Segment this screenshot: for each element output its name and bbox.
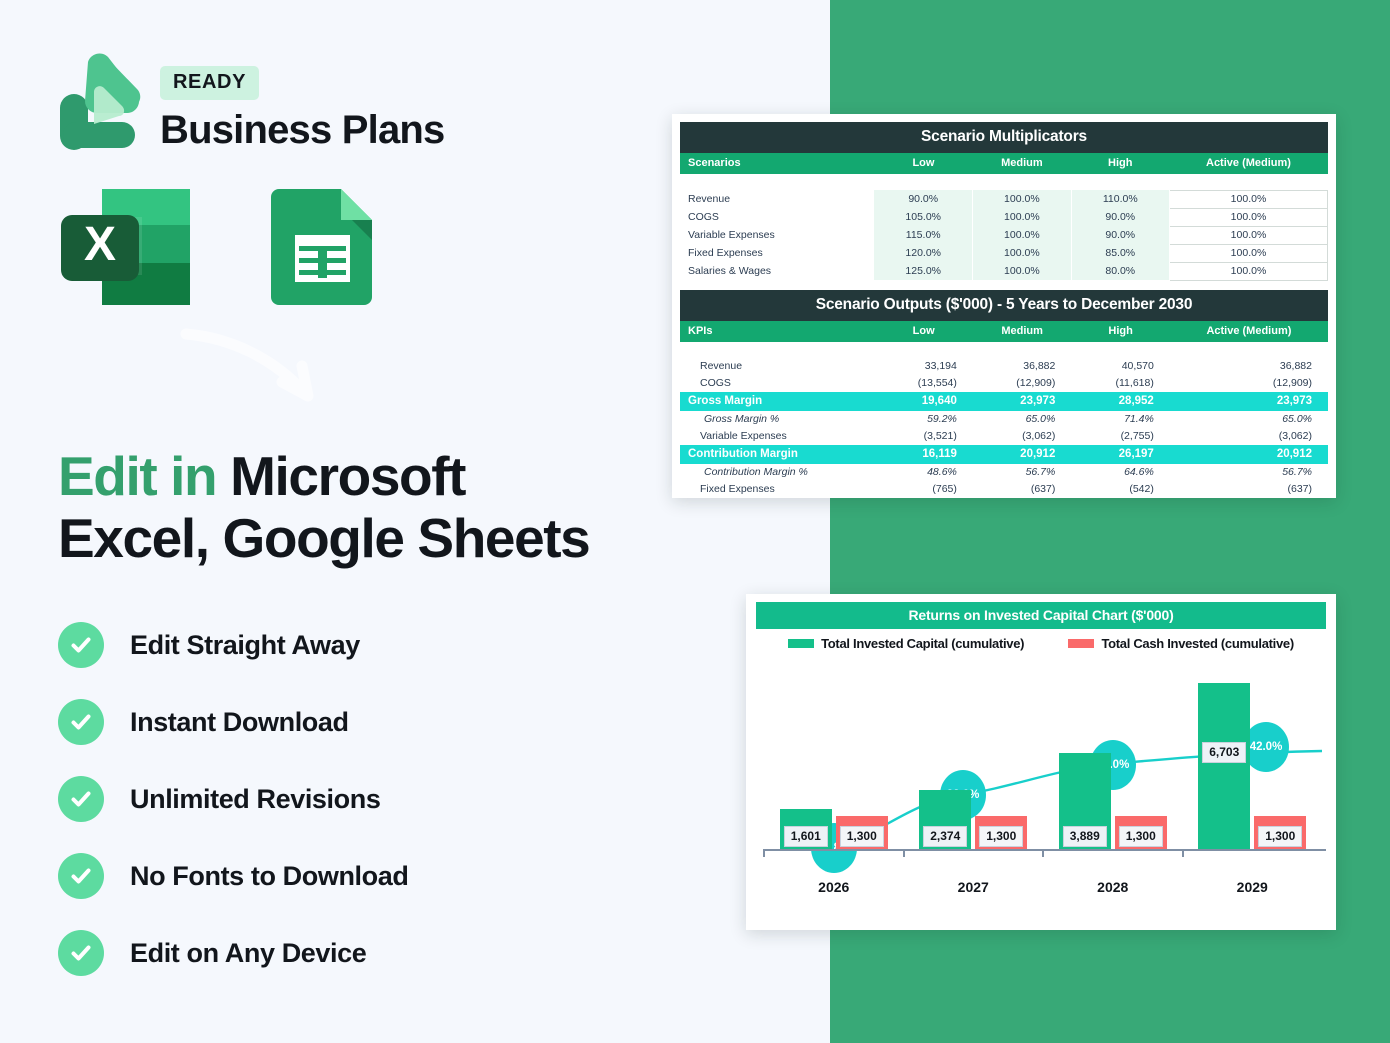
column-header: Active (Medium) — [1169, 153, 1327, 174]
row-label: Salaries & Wages — [680, 262, 874, 280]
cell-active-input[interactable]: 100.0% — [1169, 190, 1327, 208]
table-row: Variable Expenses 115.0% 100.0% 90.0% 10… — [680, 226, 1328, 244]
spreadsheet-preview-card: Scenario Multiplicators Scenarios Low Me… — [672, 114, 1336, 498]
list-item: No Fonts to Download — [58, 853, 408, 899]
app-icons-group: X — [57, 187, 374, 307]
cell-low: 90.0% — [874, 190, 972, 208]
row-label: COGS — [680, 208, 874, 226]
cell-active: 56.7% — [1170, 464, 1328, 481]
headline-accent: Edit in — [58, 445, 216, 507]
chart-title: Returns on Invested Capital Chart ($'000… — [756, 602, 1326, 629]
x-axis-label: 2029 — [1183, 879, 1323, 895]
outputs-band-title: Scenario Outputs ($'000) - 5 Years to De… — [680, 290, 1328, 321]
list-item: Instant Download — [58, 699, 408, 745]
check-circle-icon — [58, 853, 104, 899]
cell-high: (11,618) — [1071, 375, 1169, 392]
bar-value-label: 1,300 — [979, 826, 1023, 847]
cell-active: (12,909) — [1170, 375, 1328, 392]
bar-value-label: 1,300 — [840, 826, 884, 847]
bar-value-label: 1,300 — [1258, 826, 1302, 847]
cell-low: 125.0% — [874, 262, 972, 280]
cell-high: 28,952 — [1071, 392, 1169, 411]
cell-medium: (3,062) — [973, 428, 1071, 445]
cell-medium: 65.0% — [973, 411, 1071, 428]
cell-low: 33,194 — [874, 358, 972, 375]
page-title: Edit in Microsoft Excel, Google Sheets — [58, 446, 738, 569]
column-header: Active (Medium) — [1170, 321, 1328, 342]
table-row: Variable Expenses (3,521) (3,062) (2,755… — [680, 428, 1328, 445]
table-row: Fixed Expenses 120.0% 100.0% 85.0% 100.0… — [680, 244, 1328, 262]
column-header: High — [1071, 321, 1169, 342]
brand-title: Business Plans — [160, 108, 444, 153]
bar-cash-invested: 1,300 — [1254, 816, 1306, 849]
column-header: KPIs — [680, 321, 874, 342]
cell-low: (13,554) — [874, 375, 972, 392]
row-label: Revenue — [680, 358, 874, 375]
x-axis-line — [764, 849, 1326, 851]
cell-active: 36,882 — [1170, 358, 1328, 375]
bar-invested-capital: 2,374 — [919, 790, 971, 849]
ready-badge: READY — [160, 66, 259, 100]
check-circle-icon — [58, 699, 104, 745]
chart-plot-area: 18.8% 32.6% 39.0% 42.0% 1,601 1,300 2,37… — [756, 653, 1326, 903]
google-sheets-icon — [271, 187, 374, 307]
row-label: Gross Margin — [680, 392, 874, 411]
multipliers-band-title: Scenario Multiplicators — [680, 122, 1328, 153]
bar-value-label: 2,374 — [923, 826, 967, 847]
table-row: Salaries & Wages 125.0% 100.0% 80.0% 100… — [680, 262, 1328, 280]
bar-value-label: 6,703 — [1202, 742, 1246, 763]
cell-high: 40,570 — [1071, 358, 1169, 375]
feature-label: Unlimited Revisions — [130, 784, 380, 815]
legend-swatch-invested-capital — [788, 639, 814, 648]
row-label: Fixed Expenses — [680, 244, 874, 262]
row-label: Gross Margin % — [680, 411, 874, 428]
cell-medium: (637) — [973, 481, 1071, 498]
table-row-highlight: Gross Margin 19,640 23,973 28,952 23,973 — [680, 392, 1328, 411]
cell-active-input[interactable]: 100.0% — [1169, 262, 1327, 280]
legend-item: Total Invested Capital (cumulative) — [788, 636, 1024, 651]
bar-value-label: 1,601 — [784, 826, 828, 847]
cell-medium: 36,882 — [973, 358, 1071, 375]
row-label: COGS — [680, 375, 874, 392]
check-circle-icon — [58, 930, 104, 976]
cell-active: (3,062) — [1170, 428, 1328, 445]
column-header: Low — [874, 321, 972, 342]
row-label: Fixed Expenses — [680, 481, 874, 498]
cell-active: 65.0% — [1170, 411, 1328, 428]
cell-active: (637) — [1170, 481, 1328, 498]
cell-medium: 100.0% — [973, 262, 1071, 280]
bar-group-2027: 2,374 1,300 — [904, 669, 1044, 849]
table-row: Revenue 90.0% 100.0% 110.0% 100.0% — [680, 190, 1328, 208]
cell-medium: 56.7% — [973, 464, 1071, 481]
table-row: Contribution Margin % 48.6% 56.7% 64.6% … — [680, 464, 1328, 481]
check-circle-icon — [58, 622, 104, 668]
roic-chart-card: Returns on Invested Capital Chart ($'000… — [746, 594, 1336, 930]
column-header: Scenarios — [680, 153, 874, 174]
headline-rest: Microsoft — [216, 445, 465, 507]
column-header: Medium — [973, 321, 1071, 342]
x-axis-label: 2026 — [764, 879, 904, 895]
cell-high: 90.0% — [1071, 208, 1169, 226]
chart-legend: Total Invested Capital (cumulative) Tota… — [756, 629, 1326, 651]
cell-active-input[interactable]: 100.0% — [1169, 226, 1327, 244]
cell-active-input[interactable]: 100.0% — [1169, 208, 1327, 226]
x-axis-label: 2028 — [1043, 879, 1183, 895]
cell-medium: 20,912 — [973, 445, 1071, 464]
column-header: Medium — [973, 153, 1071, 174]
cell-high: (2,755) — [1071, 428, 1169, 445]
cell-high: (542) — [1071, 481, 1169, 498]
list-item: Edit on Any Device — [58, 930, 408, 976]
bar-group-2026: 1,601 1,300 — [764, 669, 904, 849]
chart-x-axis-labels: 2026 2027 2028 2029 — [764, 879, 1322, 895]
feature-label: Instant Download — [130, 707, 349, 738]
cell-active: 20,912 — [1170, 445, 1328, 464]
table-header-row: Scenarios Low Medium High Active (Medium… — [680, 153, 1328, 174]
table-row: COGS 105.0% 100.0% 90.0% 100.0% — [680, 208, 1328, 226]
bar-cash-invested: 1,300 — [836, 816, 888, 849]
feature-label: Edit on Any Device — [130, 938, 366, 969]
cell-medium: 100.0% — [973, 226, 1071, 244]
cell-low: 19,640 — [874, 392, 972, 411]
column-header: Low — [874, 153, 972, 174]
headline-line2: Excel, Google Sheets — [58, 507, 589, 569]
cell-medium: 100.0% — [973, 244, 1071, 262]
cell-high: 64.6% — [1071, 464, 1169, 481]
cell-low: 115.0% — [874, 226, 972, 244]
spacer — [680, 342, 1328, 358]
feature-label: No Fonts to Download — [130, 861, 408, 892]
brand-header: READY Business Plans — [58, 52, 444, 153]
cell-low: 48.6% — [874, 464, 972, 481]
list-item: Unlimited Revisions — [58, 776, 408, 822]
bar-value-label: 3,889 — [1063, 826, 1107, 847]
chart-bars: 1,601 1,300 2,374 1,300 3,889 — [764, 669, 1322, 849]
cell-high: 80.0% — [1071, 262, 1169, 280]
table-row: COGS (13,554) (12,909) (11,618) (12,909) — [680, 375, 1328, 392]
cell-low: (3,521) — [874, 428, 972, 445]
cell-low: 16,119 — [874, 445, 972, 464]
row-label: Variable Expenses — [680, 226, 874, 244]
list-item: Edit Straight Away — [58, 622, 408, 668]
table-row: Gross Margin % 59.2% 65.0% 71.4% 65.0% — [680, 411, 1328, 428]
cell-medium: 100.0% — [973, 190, 1071, 208]
bar-group-2028: 3,889 1,300 — [1043, 669, 1183, 849]
feature-list: Edit Straight Away Instant Download Unli… — [58, 622, 408, 976]
table-row: Fixed Expenses (765) (637) (542) (637) — [680, 481, 1328, 498]
cell-high: 90.0% — [1071, 226, 1169, 244]
cell-low: 120.0% — [874, 244, 972, 262]
row-label: Revenue — [680, 190, 874, 208]
cell-active: 23,973 — [1170, 392, 1328, 411]
row-label: Contribution Margin % — [680, 464, 874, 481]
svg-text:X: X — [84, 218, 116, 271]
cell-low: 105.0% — [874, 208, 972, 226]
bar-invested-capital: 1,601 — [780, 809, 832, 849]
bar-value-label: 1,300 — [1119, 826, 1163, 847]
legend-item: Total Cash Invested (cumulative) — [1068, 636, 1293, 651]
check-circle-icon — [58, 776, 104, 822]
cell-high: 85.0% — [1071, 244, 1169, 262]
spacer — [680, 174, 1328, 190]
bar-invested-capital: 6,703 — [1198, 683, 1250, 849]
scenario-outputs-table: KPIs Low Medium High Active (Medium) Rev… — [680, 321, 1328, 498]
feature-label: Edit Straight Away — [130, 630, 360, 661]
curved-arrow-icon — [178, 326, 358, 416]
column-header: High — [1071, 153, 1169, 174]
bar-cash-invested: 1,300 — [975, 816, 1027, 849]
bar-invested-capital: 3,889 — [1059, 753, 1111, 849]
legend-label: Total Invested Capital (cumulative) — [821, 636, 1024, 651]
spacer — [680, 281, 1328, 290]
x-axis-label: 2027 — [904, 879, 1044, 895]
cell-high: 71.4% — [1071, 411, 1169, 428]
scenario-multiplicators-table: Scenarios Low Medium High Active (Medium… — [680, 153, 1328, 281]
cell-active-input[interactable]: 100.0% — [1169, 244, 1327, 262]
bar-group-2029: 6,703 1,300 — [1183, 669, 1323, 849]
row-label: Variable Expenses — [680, 428, 874, 445]
table-header-row: KPIs Low Medium High Active (Medium) — [680, 321, 1328, 342]
row-label: Contribution Margin — [680, 445, 874, 464]
table-row-highlight: Contribution Margin 16,119 20,912 26,197… — [680, 445, 1328, 464]
cell-high: 26,197 — [1071, 445, 1169, 464]
cell-medium: (12,909) — [973, 375, 1071, 392]
microsoft-excel-icon: X — [57, 187, 194, 307]
table-row: Revenue 33,194 36,882 40,570 36,882 — [680, 358, 1328, 375]
cell-low: (765) — [874, 481, 972, 498]
bar-cash-invested: 1,300 — [1115, 816, 1167, 849]
legend-label: Total Cash Invested (cumulative) — [1101, 636, 1293, 651]
play-logo-icon — [58, 52, 144, 152]
cell-low: 59.2% — [874, 411, 972, 428]
legend-swatch-cash-invested — [1068, 639, 1094, 648]
cell-medium: 100.0% — [973, 208, 1071, 226]
cell-medium: 23,973 — [973, 392, 1071, 411]
cell-high: 110.0% — [1071, 190, 1169, 208]
